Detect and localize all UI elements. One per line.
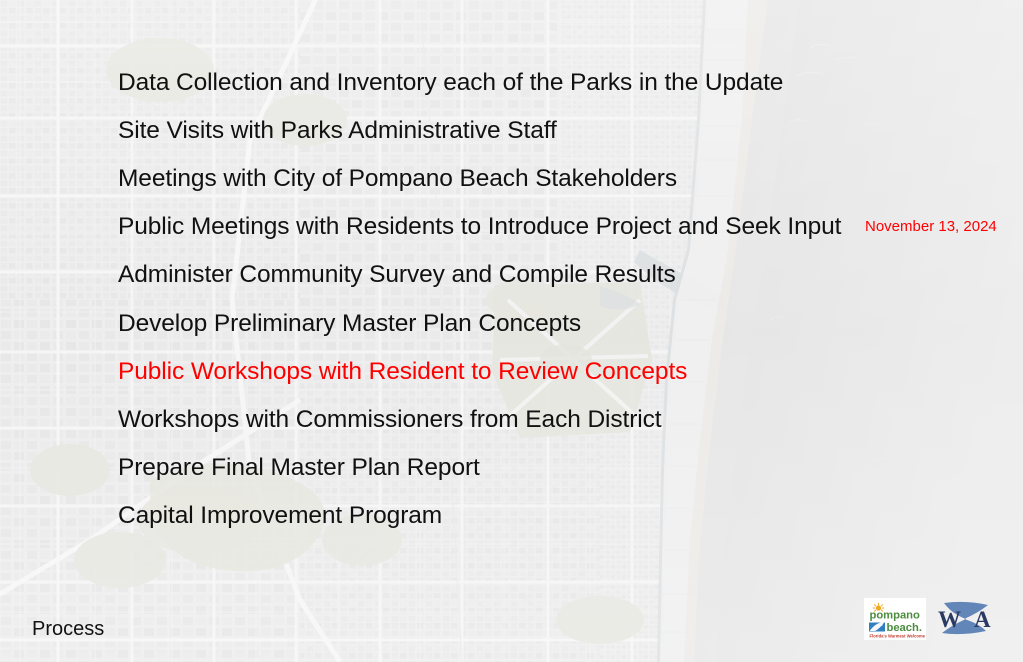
wla-letter-a: A	[974, 607, 991, 632]
pompano-tagline: Florida's Warmest Welcome	[870, 633, 926, 638]
beach-wordmark: beach.	[887, 622, 922, 634]
section-label-process: Process	[32, 618, 104, 641]
wla-logo: W A	[936, 599, 996, 639]
slide-content: Data Collection and Inventory each of th…	[0, 0, 1023, 662]
pompano-beach-logo: pompano beach. Florida's Warmest Welcome	[864, 598, 926, 640]
process-step-5: Administer Community Survey and Compile …	[118, 260, 676, 290]
pompano-wordmark: pompano	[870, 610, 921, 622]
process-step-8: Workshops with Commissioners from Each D…	[118, 405, 662, 435]
process-step-6: Develop Preliminary Master Plan Concepts	[118, 309, 581, 339]
process-step-3: Meetings with City of Pompano Beach Stak…	[118, 164, 677, 194]
wla-letter-w: W	[938, 607, 961, 632]
presentation-slide: Data Collection and Inventory each of th…	[0, 0, 1023, 662]
process-step-9: Prepare Final Master Plan Report	[118, 453, 480, 483]
presentation-date: November 13, 2024	[865, 218, 997, 235]
process-step-1: Data Collection and Inventory each of th…	[118, 68, 783, 98]
logo-row: pompano beach. Florida's Warmest Welcome	[864, 596, 1006, 642]
process-step-4: Public Meetings with Residents to Introd…	[118, 212, 841, 242]
process-step-7-highlighted: Public Workshops with Resident to Review…	[118, 357, 687, 387]
process-step-10: Capital Improvement Program	[118, 501, 442, 531]
process-step-2: Site Visits with Parks Administrative St…	[118, 116, 557, 146]
fish-wave-icon	[869, 622, 885, 632]
